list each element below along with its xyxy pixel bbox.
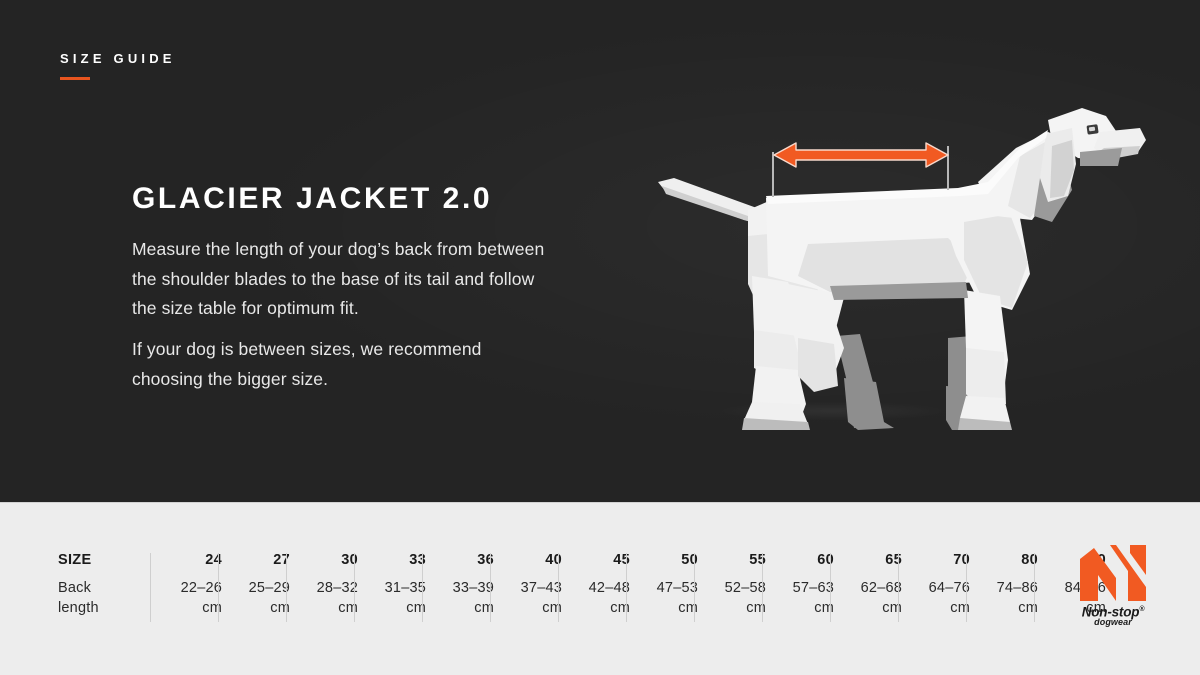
unit-label: cm [338,600,358,616]
back-length-value: 37–43cm [498,579,562,618]
table-column-divider [966,553,967,622]
size-table: SIZE Back length 2422–26cm2725–29cm3028–… [58,553,1058,625]
size-column: 4542–48cm [566,553,630,625]
unit-label: cm [474,600,494,616]
table-column-divider [218,553,219,622]
size-column: 7064–76cm [906,553,970,625]
unit-label: cm [610,600,630,616]
back-length-range: 33–39 [453,580,494,596]
unit-label: cm [1018,600,1038,616]
table-column-divider [830,553,831,622]
back-length-range: 64–76 [929,580,970,596]
unit-label: cm [406,600,426,616]
unit-label: cm [270,600,290,616]
unit-label: cm [814,600,834,616]
row-label-line-1: Back [58,580,91,596]
back-length-range: 42–48 [589,580,630,596]
description-paragraph-2: If your dog is between sizes, we recomme… [132,335,552,394]
logo-subtitle: dogwear [1072,617,1154,627]
back-length-arrow [766,138,956,172]
size-value: 33 [362,553,426,567]
unit-label: cm [882,600,902,616]
size-column: 3028–32cm [294,553,358,625]
back-length-value: 25–29cm [226,579,290,618]
size-value: 36 [430,553,494,567]
unit-label: cm [678,600,698,616]
size-column: 3331–35cm [362,553,426,625]
back-length-range: 52–58 [725,580,766,596]
size-value: 70 [906,553,970,567]
size-column: 3633–39cm [430,553,494,625]
eyebrow-label: SIZE GUIDE [60,52,176,65]
table-row-label-text: Back length [58,579,136,618]
size-column: 5047–53cm [634,553,698,625]
size-value: 30 [294,553,358,567]
size-value: 40 [498,553,562,567]
size-value: 80 [974,553,1038,567]
back-length-value: 28–32cm [294,579,358,618]
size-column: 6562–68cm [838,553,902,625]
unit-label: cm [746,600,766,616]
table-column-divider [694,553,695,622]
back-length-range: 28–32 [317,580,358,596]
eyebrow-accent-rule [60,77,90,80]
table-column-divider [354,553,355,622]
size-column: 4037–43cm [498,553,562,625]
table-column-divider [422,553,423,622]
size-column: 6057–63cm [770,553,834,625]
table-column-divider [558,553,559,622]
back-length-value: 42–48cm [566,579,630,618]
logo-registered-mark: ® [1139,606,1144,613]
table-column-divider [1034,553,1035,622]
size-value: 60 [770,553,834,567]
table-column-divider [150,553,151,622]
description-paragraph-1: Measure the length of your dog’s back fr… [132,235,552,324]
back-length-range: 31–35 [385,580,426,596]
unit-label: cm [950,600,970,616]
back-length-value: 22–26cm [158,579,222,618]
brand-logo[interactable]: Non-stop® dogwear [1072,545,1154,633]
size-column: 2725–29cm [226,553,290,625]
table-column-divider [286,553,287,622]
size-value: 65 [838,553,902,567]
size-column: 5552–58cm [702,553,766,625]
back-length-range: 47–53 [657,580,698,596]
size-guide-page: SIZE GUIDE GLACIER JACKET 2.0 Measure th… [0,0,1200,675]
table-header-size: SIZE [58,553,136,567]
back-length-range: 25–29 [249,580,290,596]
section-divider-rule [0,502,1200,503]
hero-section: SIZE GUIDE GLACIER JACKET 2.0 Measure th… [0,0,1200,502]
back-length-value: 62–68cm [838,579,902,618]
size-column: 2422–26cm [158,553,222,625]
row-label-line-2: length [58,600,99,616]
size-value: 45 [566,553,630,567]
back-length-value: 31–35cm [362,579,426,618]
back-length-range: 62–68 [861,580,902,596]
size-value: 24 [158,553,222,567]
table-column-divider [626,553,627,622]
size-value: 50 [634,553,698,567]
back-length-value: 74–86cm [974,579,1038,618]
back-length-value: 57–63cm [770,579,834,618]
back-length-range: 74–86 [997,580,1038,596]
back-length-range: 22–26 [181,580,222,596]
size-value: 55 [702,553,766,567]
unit-label: cm [202,600,222,616]
non-stop-logo-mark [1072,545,1154,601]
table-column-divider [762,553,763,622]
table-column-divider [490,553,491,622]
size-column: 8074–86cm [974,553,1038,625]
back-length-value: 52–58cm [702,579,766,618]
size-value: 27 [226,553,290,567]
back-length-range: 57–63 [793,580,834,596]
table-row-label: SIZE Back length [58,553,136,625]
back-length-range: 37–43 [521,580,562,596]
unit-label: cm [542,600,562,616]
back-length-value: 47–53cm [634,579,698,618]
back-length-value: 64–76cm [906,579,970,618]
back-length-value: 33–39cm [430,579,494,618]
table-column-divider [898,553,899,622]
page-title: GLACIER JACKET 2.0 [132,184,492,214]
